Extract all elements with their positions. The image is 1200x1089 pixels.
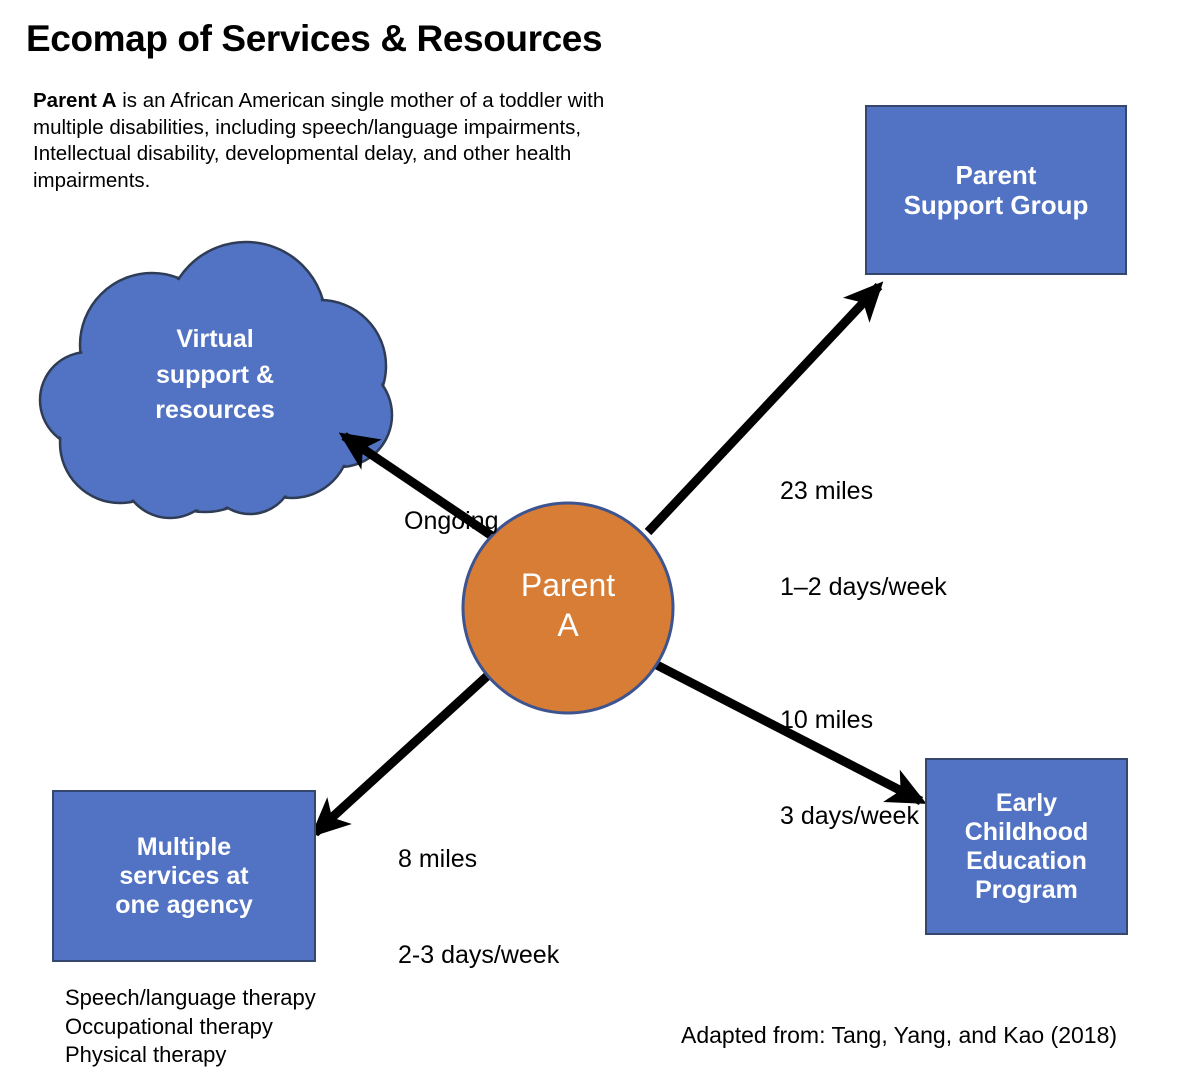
edge-label-to-agency: 8 miles 2-3 days/week [398, 779, 559, 1035]
node-early-childhood-education: Early Childhood Education Program [925, 758, 1128, 935]
ece-line-4: Program [965, 876, 1089, 905]
support-group-line-1: Parent [904, 160, 1089, 190]
cloud-label-line-2: support & [90, 358, 340, 394]
service-item-1: Speech/language therapy [65, 984, 316, 1013]
service-item-2: Occupational therapy [65, 1013, 316, 1042]
cloud-label-line-1: Virtual [90, 322, 340, 358]
ecomap-diagram: Ecomap of Services & Resources Parent A … [0, 0, 1200, 1089]
agency-text: Multiple services at one agency [115, 833, 253, 920]
agency-line-2: services at [115, 862, 253, 891]
center-label-line-2: A [463, 605, 673, 645]
edge-label-to-support-group: 23 miles 1–2 days/week [780, 411, 947, 667]
ece-text: Early Childhood Education Program [965, 789, 1089, 905]
edge-label-to-cloud: Ongoing [404, 441, 499, 601]
support-group-line-2: Support Group [904, 190, 1089, 220]
edge-label-to-agency-line-1: 8 miles [398, 843, 559, 875]
service-item-3: Physical therapy [65, 1041, 316, 1070]
node-virtual-support-label: Virtual support & resources [90, 322, 340, 429]
edge-label-to-early-childhood: 10 miles 3 days/week [780, 640, 919, 896]
ece-line-2: Childhood [965, 818, 1089, 847]
support-group-text: Parent Support Group [904, 160, 1089, 220]
node-parent-support-group: Parent Support Group [865, 105, 1127, 275]
node-multiple-services-agency: Multiple services at one agency [52, 790, 316, 962]
agency-line-1: Multiple [115, 833, 253, 862]
edge-label-to-support-group-line-1: 23 miles [780, 475, 947, 507]
edge-label-to-support-group-line-2: 1–2 days/week [780, 571, 947, 603]
edge-label-to-agency-line-2: 2-3 days/week [398, 939, 559, 971]
source-attribution: Adapted from: Tang, Yang, and Kao (2018) [681, 1022, 1117, 1049]
edge-label-to-early-childhood-line-1: 10 miles [780, 704, 919, 736]
ece-line-3: Education [965, 847, 1089, 876]
agency-line-3: one agency [115, 891, 253, 920]
ece-line-1: Early [965, 789, 1089, 818]
agency-services-list: Speech/language therapy Occupational the… [65, 984, 316, 1070]
edge-label-to-cloud-line-1: Ongoing [404, 505, 499, 537]
edge-label-to-early-childhood-line-2: 3 days/week [780, 800, 919, 832]
cloud-label-line-3: resources [90, 393, 340, 429]
